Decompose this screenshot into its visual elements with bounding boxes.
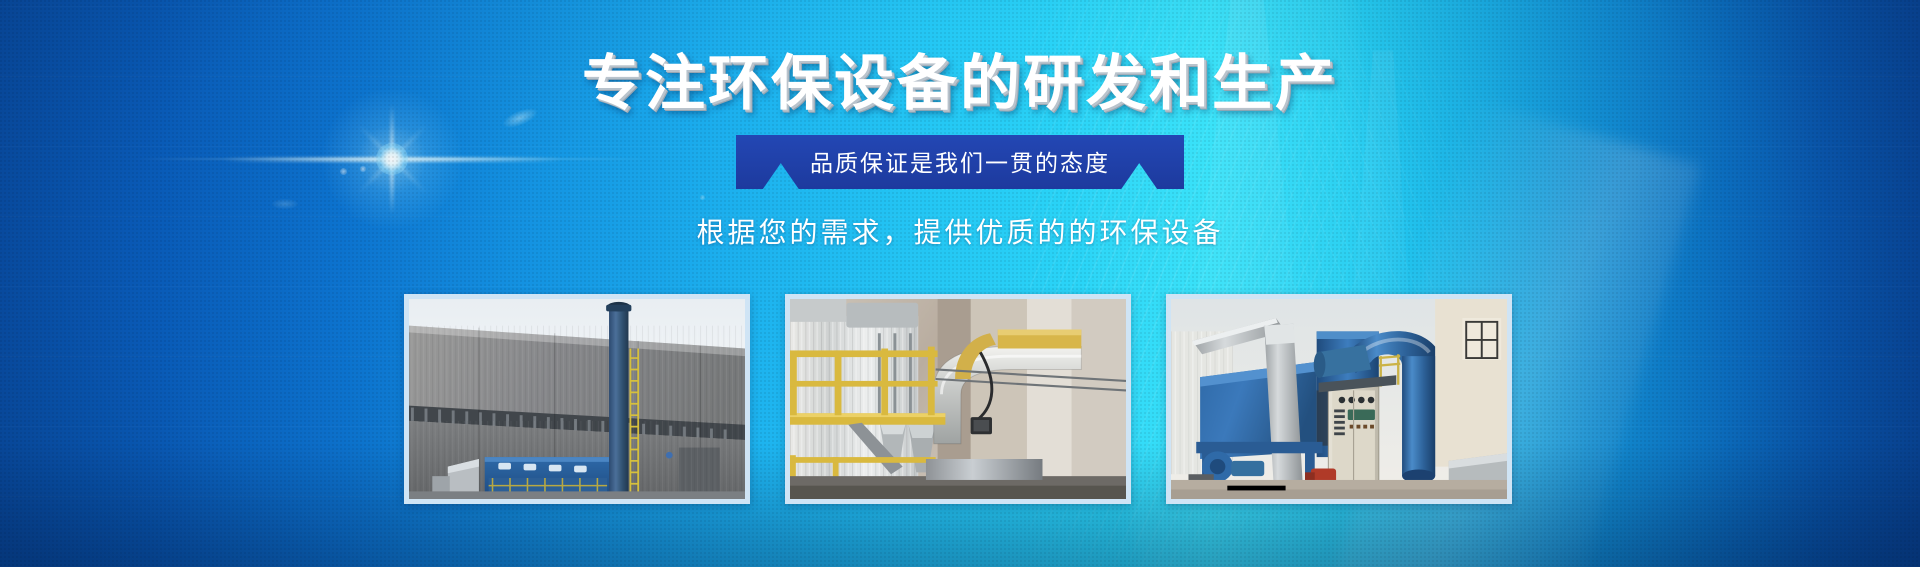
gallery-photo-workshop-exterior[interactable]: 厂房外部除尘设备与排气烟囱 — [404, 294, 750, 504]
catalytic-unit-platform-image — [790, 299, 1126, 499]
promo-banner: 专注环保设备的研发和生产 品质保证是我们一贯的态度 根据您的需求，提供优质的的环… — [0, 0, 1920, 567]
banner-subline: 根据您的需求，提供优质的的环保设备 — [696, 211, 1223, 251]
banner-headline: 专注环保设备的研发和生产 — [582, 52, 1338, 115]
workshop-exterior-image — [409, 299, 745, 499]
quality-badge: 品质保证是我们一贯的态度 — [736, 135, 1184, 189]
gallery-photo-catalytic-unit-platform[interactable]: 催化燃烧设备钢制操作平台 — [785, 294, 1131, 504]
photo-gallery: 厂房外部除尘设备与排气烟囱 — [404, 294, 1512, 504]
quality-badge-wrapper: 品质保证是我们一贯的态度 — [736, 135, 1184, 189]
blue-dust-collector-image — [1171, 299, 1507, 499]
gallery-photo-blue-dust-collector[interactable]: 蓝色脉冲布袋除尘器与控制柜 — [1166, 294, 1512, 504]
